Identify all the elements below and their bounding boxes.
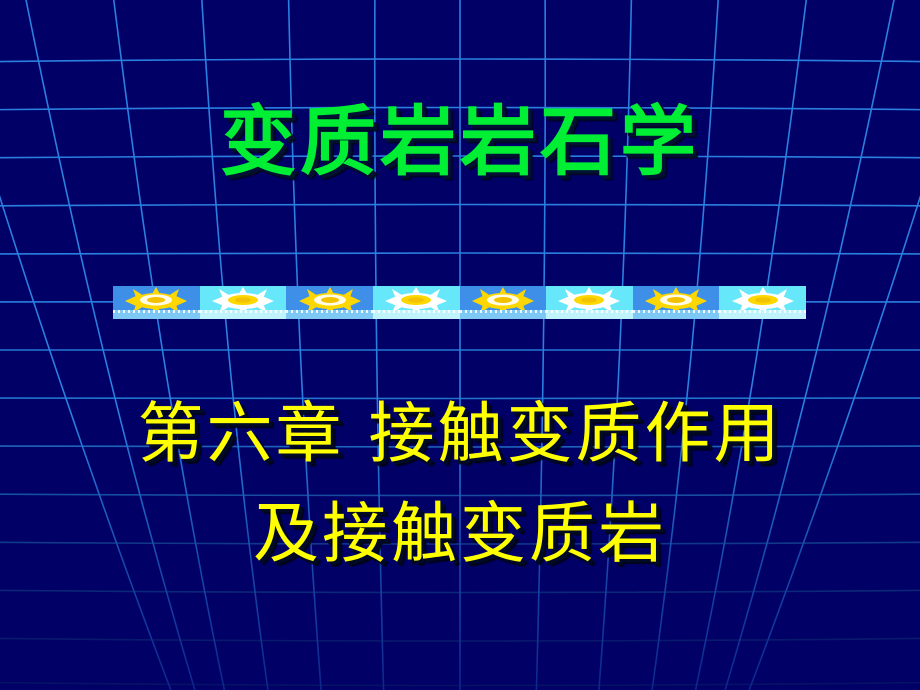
- water-strip: [546, 310, 633, 319]
- water-strip: [286, 310, 373, 319]
- sun-tile: [286, 286, 373, 319]
- water-strip: [113, 310, 200, 319]
- water-strip: [200, 310, 287, 319]
- sun-tile: [546, 286, 633, 319]
- subtitle-line-2: 及接触变质岩: [0, 484, 920, 584]
- slide-content-layer: 变质岩岩石学: [0, 0, 920, 690]
- subtitle-block: 第六章 接触变质作用 及接触变质岩: [0, 384, 920, 584]
- decorative-divider-band: [113, 286, 806, 319]
- water-strip: [633, 310, 720, 319]
- subtitle-line-1: 第六章 接触变质作用: [0, 384, 920, 484]
- sun-tile: [460, 286, 547, 319]
- sun-tile: [200, 286, 287, 319]
- sun-tile: [633, 286, 720, 319]
- sun-tile: [719, 286, 806, 319]
- title-block: 变质岩岩石学: [0, 96, 920, 188]
- sun-tile: [373, 286, 460, 319]
- water-strip: [373, 310, 460, 319]
- presentation-slide: 变质岩岩石学: [0, 0, 920, 690]
- water-strip: [719, 310, 806, 319]
- page-title: 变质岩岩石学: [220, 96, 700, 188]
- sun-tile: [113, 286, 200, 319]
- water-strip: [460, 310, 547, 319]
